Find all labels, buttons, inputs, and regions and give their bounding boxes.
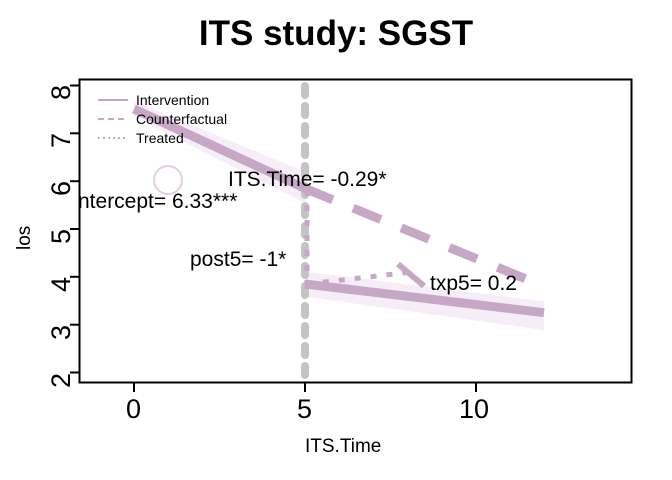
legend-label-treated: Treated — [136, 130, 184, 146]
x-tick-label-10: 10 — [459, 394, 489, 425]
annotation-txp5: txp5= 0.2 — [430, 272, 517, 296]
x-tick-label-5: 5 — [297, 394, 312, 425]
x-tick-label-0: 0 — [126, 394, 141, 425]
x-axis-ticks — [134, 383, 476, 392]
y-tick-label-5: 5 — [46, 229, 77, 244]
y-tick-label-2: 2 — [46, 373, 77, 388]
its-chart: ITS study: SGST — [0, 0, 672, 480]
y-tick-label-3: 3 — [46, 325, 77, 340]
y-tick-label-4: 4 — [46, 277, 77, 292]
legend-label-counterfactual: Counterfactual — [136, 111, 227, 127]
y-tick-label-6: 6 — [46, 181, 77, 196]
annotation-its-time: ITS.Time= -0.29* — [228, 168, 387, 192]
y-tick-label-8: 8 — [46, 85, 77, 100]
x-axis-title: ITS.Time — [305, 436, 381, 458]
legend-label-intervention: Intervention — [136, 92, 209, 108]
annotation-post5: post5= -1* — [190, 248, 286, 272]
treated-endpoint-accent — [398, 264, 424, 286]
annotation-intercept: ntercept= 6.33*** — [78, 190, 237, 214]
y-tick-label-7: 7 — [46, 133, 77, 148]
y-axis-title: los — [14, 226, 36, 250]
plot-canvas — [0, 0, 672, 480]
